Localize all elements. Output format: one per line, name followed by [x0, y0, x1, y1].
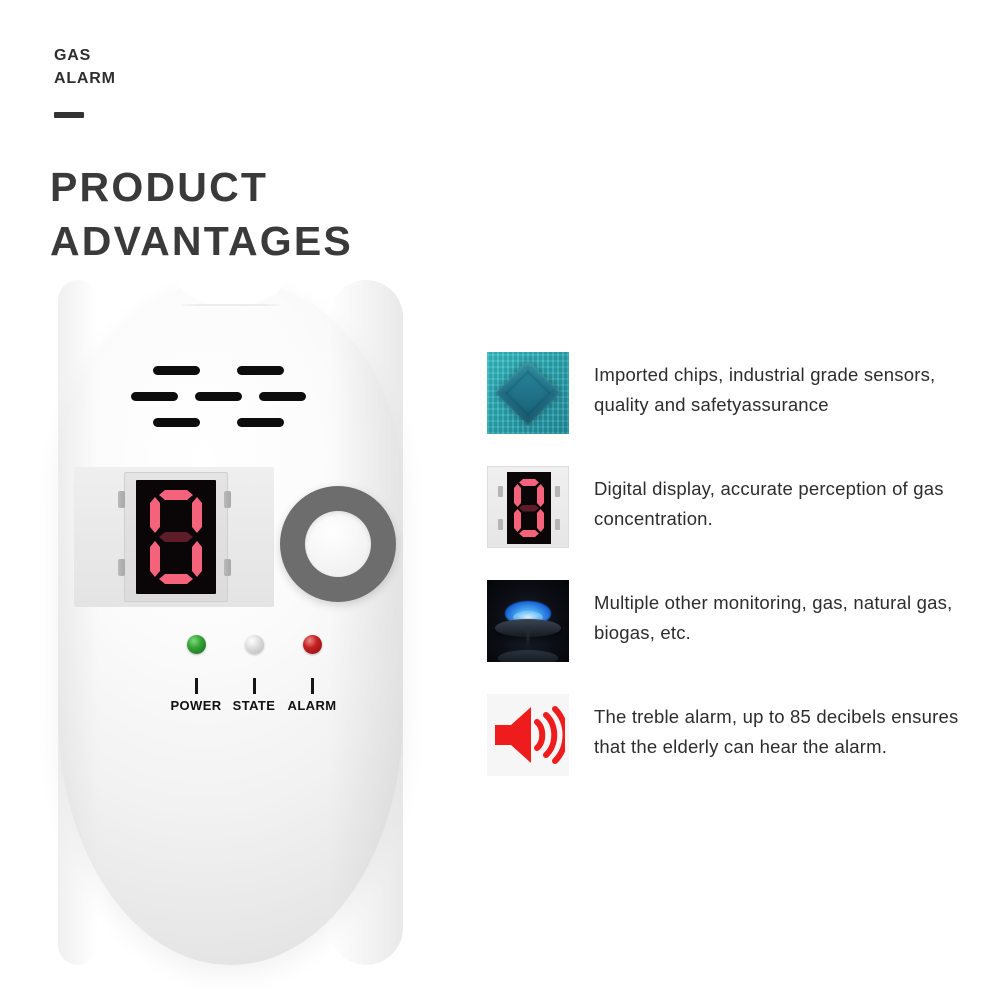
display-tab: [224, 559, 231, 576]
led-label: STATE: [224, 698, 284, 713]
digital-display-icon: [487, 466, 569, 548]
led-indicator-power: POWER: [166, 635, 226, 713]
product-image: POWER STATE ALARM: [40, 280, 460, 970]
page-title: PRODUCT ADVANTAGES: [50, 160, 353, 268]
segment-b: [537, 484, 544, 507]
page-title-line-1: PRODUCT: [50, 160, 353, 214]
eyebrow-line-1: GAS: [54, 44, 116, 67]
segment-c: [537, 509, 544, 532]
segment-d: [159, 574, 193, 584]
led-label: POWER: [166, 698, 226, 713]
led-label: ALARM: [282, 698, 342, 713]
segment-a: [159, 490, 193, 500]
display-tab: [118, 491, 125, 508]
display-tab: [555, 486, 560, 497]
grille-slot: [237, 418, 284, 427]
grille-slot: [131, 392, 178, 401]
state-led-icon: [245, 635, 264, 654]
lcd-screen: [136, 480, 216, 594]
feature-item: Digital display, accurate perception of …: [487, 466, 967, 548]
page-title-line-2: ADVANTAGES: [50, 214, 353, 268]
segment-e: [514, 509, 521, 532]
grille-slot: [153, 418, 200, 427]
segment-f: [514, 484, 521, 507]
speaker-alarm-icon: [487, 694, 569, 776]
feature-text: Imported chips, industrial grade sensors…: [594, 352, 967, 420]
speaker-grille: [131, 366, 331, 428]
seven-segment-digit: [514, 479, 544, 537]
feature-list: Imported chips, industrial grade sensors…: [487, 352, 967, 808]
eyebrow-label: GAS ALARM: [54, 44, 116, 90]
segment-e: [150, 541, 160, 577]
device-right-shading: [329, 280, 403, 965]
segment-g: [519, 505, 539, 512]
display-tab: [498, 519, 503, 530]
eyebrow-line-2: ALARM: [54, 67, 116, 90]
grille-slot: [237, 366, 284, 375]
segment-a: [519, 479, 539, 486]
led-indicator-alarm: ALARM: [282, 635, 342, 713]
gas-flame-icon: [487, 580, 569, 662]
device-left-shading: [58, 280, 98, 965]
title-rule-divider: [54, 112, 84, 118]
display-panel: [74, 467, 274, 607]
led-indicator-state: STATE: [224, 635, 284, 713]
segment-b: [192, 497, 202, 533]
led-indicator-group: POWER STATE ALARM: [166, 635, 336, 725]
led-tick-mark: [253, 678, 256, 694]
seven-segment-digit: [150, 490, 202, 584]
segment-g: [159, 532, 193, 542]
feature-text: Multiple other monitoring, gas, natural …: [594, 580, 967, 648]
led-tick-mark: [311, 678, 314, 694]
grille-slot: [259, 392, 306, 401]
segment-d: [519, 530, 539, 537]
feature-item: Imported chips, industrial grade sensors…: [487, 352, 967, 434]
chip-icon: [487, 352, 569, 434]
grille-slot: [195, 392, 242, 401]
display-tab: [224, 491, 231, 508]
led-tick-mark: [195, 678, 198, 694]
lcd-screen: [507, 472, 551, 544]
feature-text: Digital display, accurate perception of …: [594, 466, 967, 534]
test-button[interactable]: [280, 486, 396, 602]
display-tab: [498, 486, 503, 497]
chip-die-shape: [495, 360, 560, 425]
grille-slot: [153, 366, 200, 375]
feature-item: Multiple other monitoring, gas, natural …: [487, 580, 967, 662]
power-led-icon: [187, 635, 206, 654]
burner-base-shape: [498, 650, 558, 662]
segment-f: [150, 497, 160, 533]
device-top-notch: [175, 264, 287, 306]
segment-c: [192, 541, 202, 577]
display-tab: [118, 559, 125, 576]
alarm-led-icon: [303, 635, 322, 654]
feature-text: The treble alarm, up to 85 decibels ensu…: [594, 694, 967, 762]
feature-item: The treble alarm, up to 85 decibels ensu…: [487, 694, 967, 776]
display-tab: [555, 519, 560, 530]
device-body: POWER STATE ALARM: [58, 280, 403, 965]
